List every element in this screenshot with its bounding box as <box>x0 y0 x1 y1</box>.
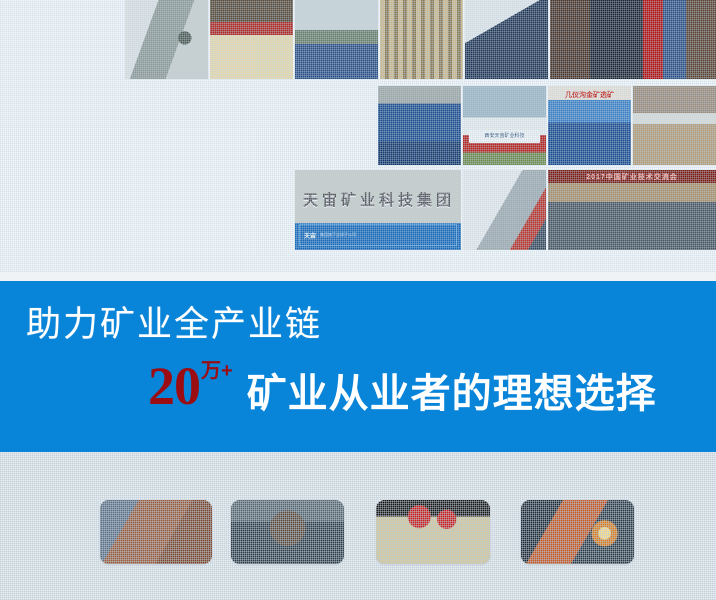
photo-workbench[interactable] <box>465 0 548 79</box>
slogan-line-primary: 助力矿业全产业链 <box>26 304 322 346</box>
photo-sample-bottles-image <box>380 0 463 79</box>
photo-field-crew[interactable] <box>633 86 716 165</box>
photo-mountain-team-image <box>295 0 378 79</box>
photo-geologist-sampling[interactable] <box>100 500 212 564</box>
photo-conference-group-sign-text: 2017中国矿业技术交流会 <box>552 172 712 183</box>
photo-workbench-image <box>465 0 548 79</box>
slogan-banner: 助力矿业全产业链 20 万+ 矿业从业者的理想选择 <box>0 281 716 452</box>
photo-blue-uniform-team-image <box>378 86 461 165</box>
member-count-unit: 万+ <box>201 361 233 381</box>
slogan-line-secondary: 20 万+ 矿业从业者的理想选择 <box>148 359 657 413</box>
photo-mountain-team[interactable] <box>295 0 378 79</box>
photo-company-sign[interactable]: 天宙矿业科技集团 天宙 集团旗下全球子公司 <box>295 170 461 250</box>
photo-field-crew-image <box>633 86 716 165</box>
photo-red-helmet-workers-image <box>376 500 490 564</box>
slogan-tagline: 矿业从业者的理想选择 <box>247 372 657 416</box>
photo-furnace-operator[interactable] <box>521 500 634 564</box>
photo-furnace-operator-image <box>521 500 634 564</box>
industry-roles-strip <box>0 452 716 600</box>
photo-conference-group[interactable]: 2017中国矿业技术交流会 <box>548 170 716 250</box>
photo-red-helmet-workers[interactable] <box>376 500 490 564</box>
photo-street-banner[interactable]: 西安天宙矿业科技 <box>463 86 546 165</box>
photo-geologist-sampling-image <box>100 500 212 564</box>
photo-smiling-miner-image <box>231 500 344 564</box>
photo-blue-uniform-team[interactable] <box>378 86 461 165</box>
photo-plant-group-sign-text: 几仪沟金矿选矿 <box>552 90 627 101</box>
photo-plant-group[interactable]: 几仪沟金矿选矿 <box>548 86 631 165</box>
photo-street-banner-image <box>463 86 546 165</box>
photo-company-sign-text: 天宙矿业科技集团 <box>303 192 453 210</box>
photo-welding-worker-image <box>463 170 546 250</box>
photo-lab-equipment[interactable] <box>125 0 208 79</box>
photo-welding-worker[interactable] <box>463 170 546 250</box>
photo-lab-equipment-image <box>125 0 208 79</box>
photo-company-sign-sub-brand: 天宙 <box>300 231 320 240</box>
company-photo-collage: 西安天宙矿业科技 几仪沟金矿选矿 天宙矿业科技集团 天宙 集团旗下全球子公司 2… <box>0 0 716 272</box>
photo-company-sign-sub-line: 集团旗下全球子公司 <box>320 232 456 238</box>
photo-chairman-office-image <box>550 0 716 79</box>
photo-award-ceremony[interactable] <box>210 0 293 79</box>
photo-award-ceremony-image <box>210 0 293 79</box>
photo-chairman-office[interactable] <box>550 0 716 79</box>
photo-sample-bottles[interactable] <box>380 0 463 79</box>
photo-smiling-miner[interactable] <box>231 500 344 564</box>
member-count-number: 20 <box>148 359 200 413</box>
photo-street-banner-sign-text: 西安天宙矿业科技 <box>469 130 540 143</box>
